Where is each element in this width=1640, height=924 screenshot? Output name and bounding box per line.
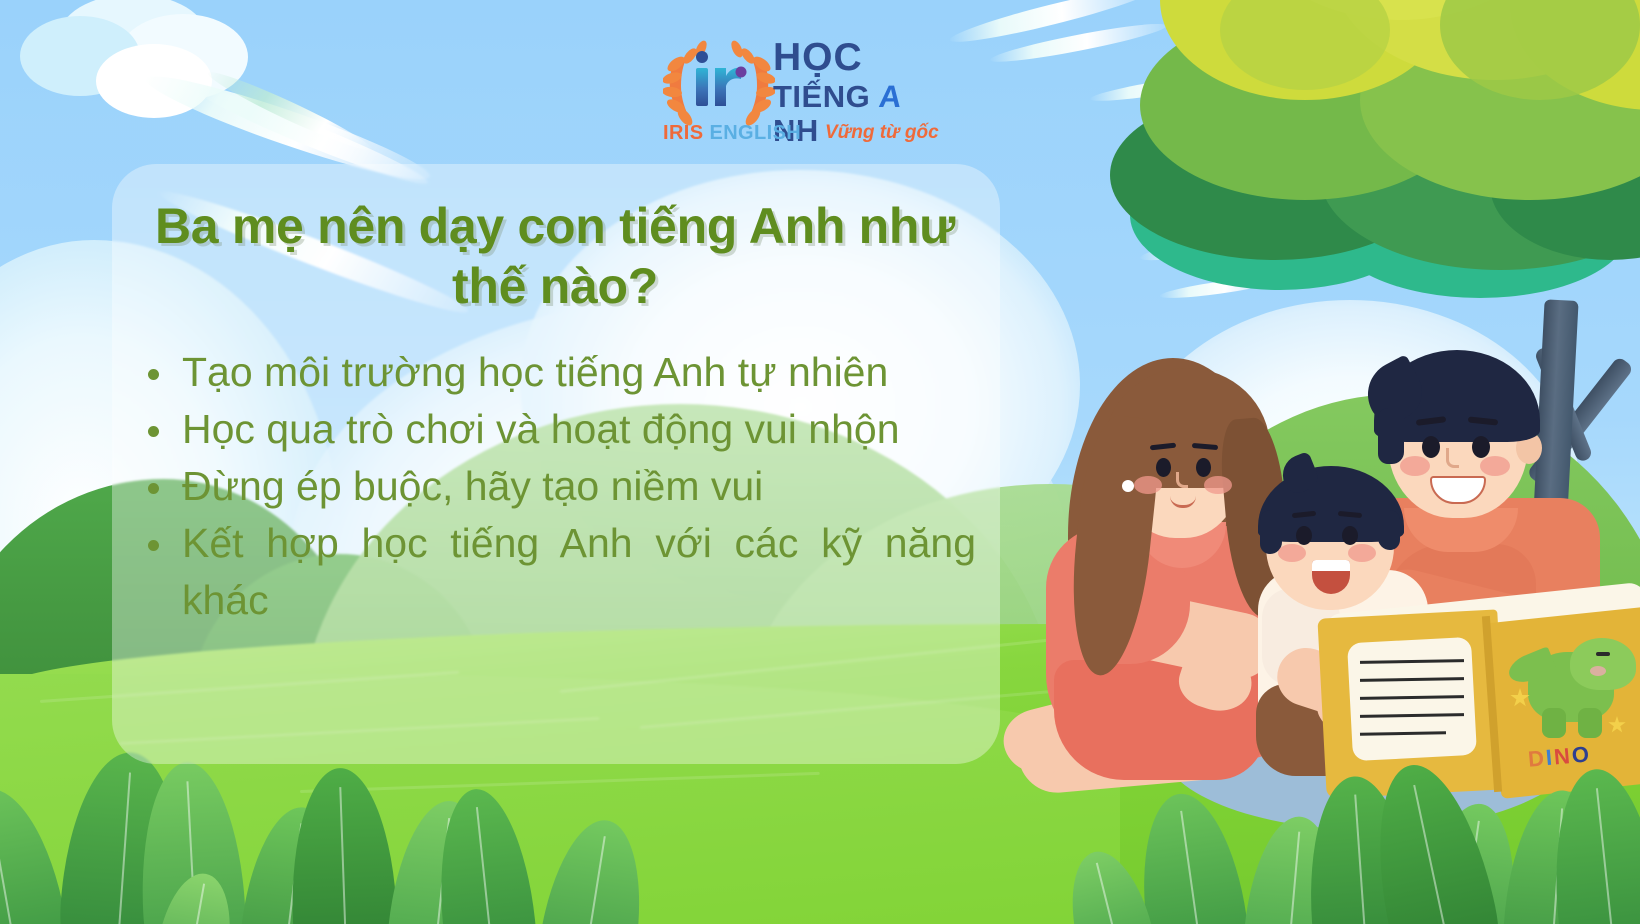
logo-slogan: Vững từ gốc: [825, 122, 939, 144]
dinosaur-head-icon: [1570, 638, 1636, 690]
dinosaur-blush-icon: [1590, 666, 1606, 676]
brand-logo[interactable]: HỌC TIẾNG ANH IRIS ENGLISH Vững từ gốc: [663, 34, 923, 144]
logo-brand-iris: IRIS: [663, 122, 704, 144]
list-item-text: Kết hợp học tiếng Anh với các kỹ năng kh…: [182, 515, 976, 629]
logo-line-hoc: HỌC: [773, 37, 863, 79]
mother-nose: [1176, 472, 1188, 488]
logo-brand-english: ENGLISH: [704, 122, 802, 144]
child-blush-left: [1278, 544, 1306, 562]
father-eye-right: [1472, 436, 1490, 458]
mother-earring: [1122, 480, 1134, 492]
ir-monogram-icon: [687, 48, 751, 110]
dino-letter-o: O: [1571, 741, 1592, 768]
list-item-text: Tạo môi trường học tiếng Anh tự nhiên: [182, 344, 976, 401]
tree-canopy: [1090, 0, 1640, 360]
tips-list: Tạo môi trường học tiếng Anh tự nhiên Họ…: [136, 344, 976, 629]
mother-eye-left: [1156, 458, 1171, 477]
logo-stylized-a: A: [878, 80, 904, 114]
child-eye-right: [1342, 526, 1358, 545]
list-item-text: Học qua trò chơi và hoạt động vui nhộn: [182, 401, 976, 458]
list-item: Tạo môi trường học tiếng Anh tự nhiên: [136, 344, 976, 401]
father-nose: [1446, 448, 1459, 468]
child-sideburn: [1260, 510, 1282, 554]
dinosaur-leg-icon: [1578, 708, 1602, 738]
page-title: Ba mẹ nên dạy con tiếng Anh như thế nào?: [140, 196, 970, 316]
dinosaur-eye-icon: [1596, 652, 1610, 656]
father-eye-left: [1422, 436, 1440, 458]
list-item: Kết hợp học tiếng Anh với các kỹ năng kh…: [136, 515, 976, 629]
child-blush-right: [1348, 544, 1376, 562]
dino-letter-n: N: [1553, 743, 1573, 769]
father-blush-left: [1400, 456, 1430, 476]
child-eye-left: [1296, 526, 1312, 545]
father-blush-right: [1480, 456, 1510, 476]
dinosaur-leg-icon: [1542, 708, 1566, 738]
book-cover-label: DINO: [1527, 741, 1592, 772]
child-teeth: [1312, 560, 1350, 571]
mother-blush-left: [1134, 476, 1162, 494]
mother-blush-right: [1204, 476, 1232, 494]
father-sideburn: [1378, 408, 1404, 464]
list-item: Đừng ép buộc, hãy tạo niềm vui: [136, 458, 976, 515]
dino-letter-d: D: [1527, 745, 1547, 771]
list-item: Học qua trò chơi và hoạt động vui nhộn: [136, 401, 976, 458]
mother-eye-right: [1196, 458, 1211, 477]
child-sideburn: [1378, 510, 1400, 550]
list-item-text: Đừng ép buộc, hãy tạo niềm vui: [182, 458, 976, 515]
logo-brand-name: IRIS ENGLISH: [663, 122, 801, 144]
logo-tieng-text: TIẾNG: [773, 79, 879, 114]
poster-canvas: DINO Ba mẹ nên dạy con tiếng Anh như thế…: [0, 0, 1640, 924]
